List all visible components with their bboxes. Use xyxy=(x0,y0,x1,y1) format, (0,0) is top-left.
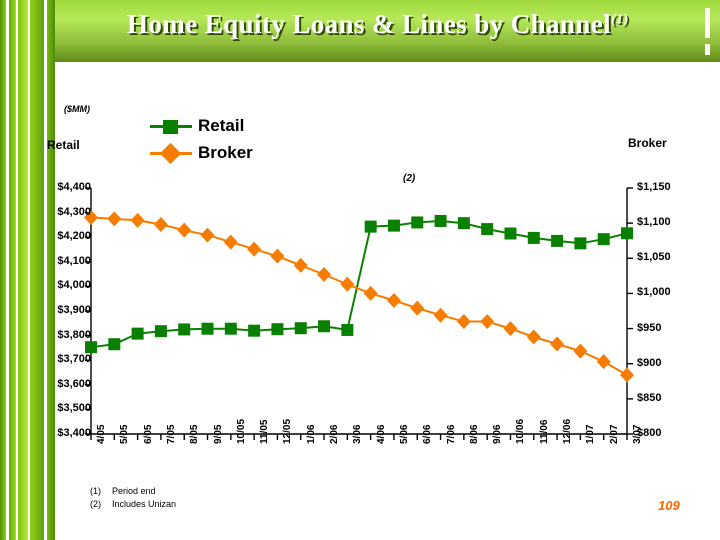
x-tick-11-06: 11/06 xyxy=(539,420,550,444)
data-point-retail-10-06 xyxy=(504,228,516,240)
data-point-retail-3-06 xyxy=(341,324,353,336)
x-tick-8-05: 8/05 xyxy=(189,425,200,444)
data-point-broker-9-06 xyxy=(480,314,494,329)
x-tick-7-05: 7/05 xyxy=(166,425,177,444)
left-tick-3800: $3,800 xyxy=(57,329,91,341)
banner-accent-bar-bottom xyxy=(705,44,710,55)
chart-region: ($MM) Retail Broker Retail Broker (2) $3… xyxy=(0,62,720,540)
data-point-retail-9-05 xyxy=(202,323,214,335)
footnote-2-num: (2) xyxy=(90,499,112,509)
data-point-broker-6-06 xyxy=(410,301,424,316)
x-tick-7-06: 7/06 xyxy=(446,425,457,444)
page-title-text: Home Equity Loans & Lines by Channel xyxy=(127,9,611,39)
footnote-2-text: Includes Unizan xyxy=(112,499,176,509)
left-tick-3700: $3,700 xyxy=(57,353,91,365)
data-point-retail-2-07 xyxy=(598,233,610,245)
x-tick-1-07: 1/07 xyxy=(585,425,596,444)
data-point-retail-3-07 xyxy=(621,227,633,239)
x-tick-4-05: 4/05 xyxy=(96,425,107,444)
data-point-retail-8-05 xyxy=(178,323,190,335)
footnote-2: (2)Includes Unizan xyxy=(90,499,176,509)
right-tick-850: $850 xyxy=(637,392,661,404)
data-point-broker-12-05 xyxy=(270,249,284,264)
data-point-broker-3-06 xyxy=(340,277,354,292)
plot-svg xyxy=(0,62,720,540)
data-point-retail-6-05 xyxy=(132,328,144,340)
data-point-broker-7-05 xyxy=(154,217,168,232)
right-tick-1050: $1,050 xyxy=(637,251,671,263)
x-tick-9-06: 9/06 xyxy=(492,425,503,444)
x-tick-6-05: 6/05 xyxy=(143,425,154,444)
x-tick-3-06: 3/06 xyxy=(352,425,363,444)
page-title: Home Equity Loans & Lines by Channel(1) xyxy=(127,9,629,40)
data-point-broker-5-06 xyxy=(387,293,401,308)
footnote-1-text: Period end xyxy=(112,486,156,496)
x-tick-2-06: 2/06 xyxy=(329,425,340,444)
left-tick-4200: $4,200 xyxy=(57,230,91,242)
x-tick-2-07: 2/07 xyxy=(609,425,620,444)
data-point-retail-5-05 xyxy=(108,338,120,350)
data-point-retail-9-06 xyxy=(481,223,493,235)
banner-accent-bar-top xyxy=(705,8,710,38)
data-point-broker-3-07 xyxy=(620,367,634,382)
data-point-retail-4-06 xyxy=(365,221,377,233)
data-point-broker-1-07 xyxy=(573,344,587,359)
left-tick-3900: $3,900 xyxy=(57,304,91,316)
data-point-retail-1-06 xyxy=(295,322,307,334)
data-point-broker-10-06 xyxy=(503,321,517,336)
data-point-broker-8-06 xyxy=(457,314,471,329)
right-tick-1150: $1,150 xyxy=(637,181,671,193)
data-point-retail-4-05 xyxy=(85,341,97,353)
footnote-1-num: (1) xyxy=(90,486,112,496)
left-tick-4300: $4,300 xyxy=(57,206,91,218)
data-point-retail-2-06 xyxy=(318,320,330,332)
data-point-retail-7-06 xyxy=(435,215,447,227)
data-point-broker-2-07 xyxy=(597,354,611,369)
x-tick-11-05: 11/05 xyxy=(259,420,270,444)
right-tick-1100: $1,100 xyxy=(637,216,671,228)
x-tick-12-05: 12/05 xyxy=(282,419,293,444)
data-point-broker-10-05 xyxy=(224,235,238,250)
data-point-retail-12-06 xyxy=(551,235,563,247)
data-point-retail-10-05 xyxy=(225,323,237,335)
x-tick-5-05: 5/05 xyxy=(119,425,130,444)
data-point-retail-6-06 xyxy=(411,216,423,228)
page-title-footnote-ref: (1) xyxy=(611,12,629,27)
left-tick-3600: $3,600 xyxy=(57,378,91,390)
left-tick-3500: $3,500 xyxy=(57,402,91,414)
x-tick-3-07: 3/07 xyxy=(632,425,643,444)
right-tick-950: $950 xyxy=(637,322,661,334)
left-tick-4400: $4,400 xyxy=(57,181,91,193)
x-tick-9-05: 9/05 xyxy=(213,425,224,444)
data-point-retail-7-05 xyxy=(155,325,167,337)
data-point-broker-11-05 xyxy=(247,242,261,257)
x-tick-12-06: 12/06 xyxy=(562,419,573,444)
data-point-broker-6-05 xyxy=(131,213,145,228)
data-point-retail-1-07 xyxy=(574,237,586,249)
data-point-retail-8-06 xyxy=(458,217,470,229)
data-point-broker-1-06 xyxy=(294,258,308,273)
x-tick-5-06: 5/06 xyxy=(399,425,410,444)
x-tick-10-06: 10/06 xyxy=(515,419,526,444)
left-tick-3400: $3,400 xyxy=(57,427,91,439)
data-point-retail-12-05 xyxy=(271,323,283,335)
data-point-broker-7-06 xyxy=(434,308,448,323)
x-tick-1-06: 1/06 xyxy=(306,425,317,444)
data-point-broker-5-05 xyxy=(107,211,121,226)
right-tick-1000: $1,000 xyxy=(637,286,671,298)
data-point-broker-12-06 xyxy=(550,337,564,352)
data-point-retail-5-06 xyxy=(388,220,400,232)
x-tick-6-06: 6/06 xyxy=(422,425,433,444)
x-tick-8-06: 8/06 xyxy=(469,425,480,444)
data-point-broker-9-05 xyxy=(201,228,215,243)
right-tick-900: $900 xyxy=(637,357,661,369)
left-tick-4000: $4,000 xyxy=(57,279,91,291)
data-point-broker-11-06 xyxy=(527,330,541,345)
data-point-retail-11-06 xyxy=(528,232,540,244)
x-tick-10-05: 10/05 xyxy=(236,419,247,444)
data-point-broker-8-05 xyxy=(177,223,191,238)
page-number: 109 xyxy=(658,498,680,513)
header-banner: Home Equity Loans & Lines by Channel(1) xyxy=(55,0,720,62)
data-point-broker-2-06 xyxy=(317,267,331,282)
x-tick-4-06: 4/06 xyxy=(376,425,387,444)
footnote-1: (1)Period end xyxy=(90,486,156,496)
data-point-broker-4-06 xyxy=(364,286,378,301)
slide: Home Equity Loans & Lines by Channel(1) … xyxy=(0,0,720,540)
left-tick-4100: $4,100 xyxy=(57,255,91,267)
data-point-retail-11-05 xyxy=(248,325,260,337)
